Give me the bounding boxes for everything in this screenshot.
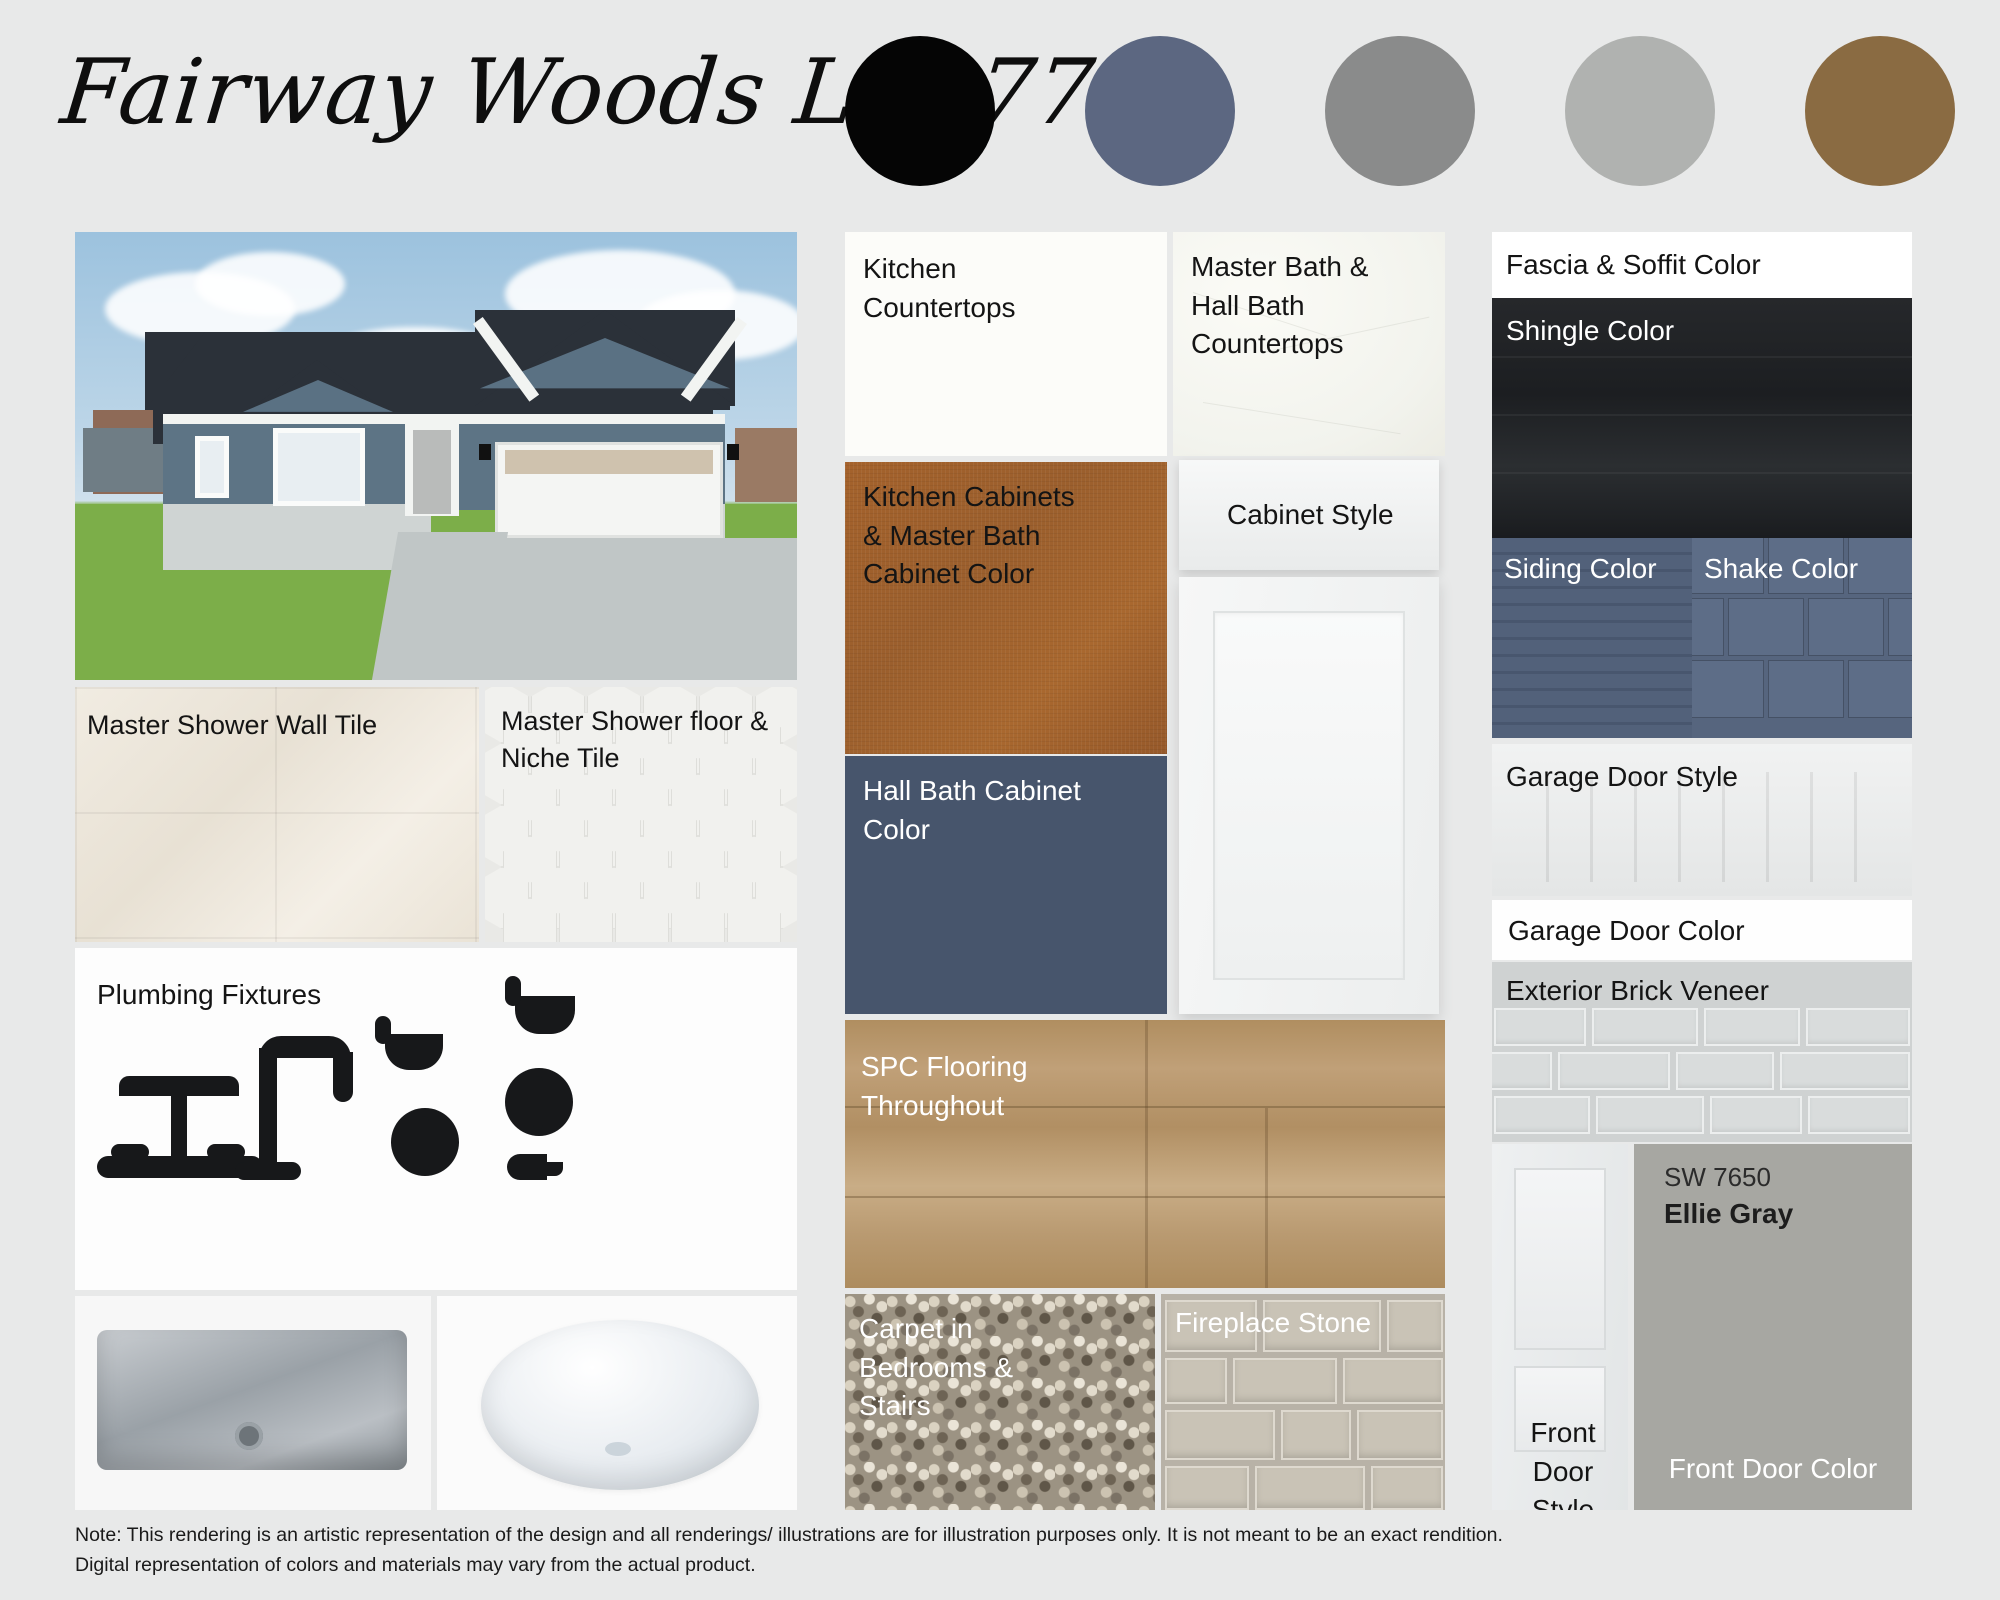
exterior-brick-veneer-label: Exterior Brick Veneer xyxy=(1506,972,1769,1011)
house-rendering-image xyxy=(75,232,797,680)
shower-head-icon xyxy=(385,1034,443,1070)
kitchen-sink-image xyxy=(75,1296,431,1510)
front-door-color-swatch: SW 7650 Ellie Gray Front Door Color xyxy=(1634,1144,1912,1510)
mid-gray-swatch xyxy=(1325,36,1475,186)
master-hall-bath-countertops-label: Master Bath & Hall Bath Countertops xyxy=(1191,248,1368,364)
center-column: Kitchen Countertops Master Bath & Hall B… xyxy=(845,232,1445,1510)
front-door-style-image: Front Door Style xyxy=(1492,1144,1628,1510)
shake-color-swatch: Shake Color xyxy=(1692,538,1912,738)
selections-mood-board: Fairway Woods Lot 77 xyxy=(0,0,2000,1600)
plumbing-fixtures-label: Plumbing Fixtures xyxy=(97,976,321,1015)
hall-bath-cabinet-color-swatch: Hall Bath Cabinet Color xyxy=(845,756,1167,1014)
fascia-soffit-color-label: Fascia & Soffit Color xyxy=(1506,246,1761,285)
carpet-swatch: Carpet in Bedrooms & Stairs xyxy=(845,1294,1155,1510)
fireplace-stone-swatch: Fireplace Stone xyxy=(1161,1294,1445,1510)
fascia-soffit-color-swatch: Fascia & Soffit Color xyxy=(1492,232,1912,298)
right-column: Fascia & Soffit Color Shingle Color Sidi… xyxy=(1492,232,1912,1510)
master-shower-wall-tile-swatch: Master Shower Wall Tile xyxy=(75,687,479,942)
shingle-color-swatch: Shingle Color xyxy=(1492,298,1912,538)
black-swatch xyxy=(845,36,995,186)
plumbing-fixtures-tile: Plumbing Fixtures xyxy=(75,948,797,1290)
slate-blue-swatch xyxy=(1085,36,1235,186)
spc-flooring-swatch: SPC Flooring Throughout xyxy=(845,1020,1445,1288)
master-shower-floor-tile-swatch: Master Shower floor & Niche Tile xyxy=(485,687,797,942)
garage-door-color-swatch: Garage Door Color xyxy=(1492,900,1912,960)
lavatory-sink-image xyxy=(437,1296,797,1510)
siding-color-label: Siding Color xyxy=(1504,550,1657,589)
cabinet-style-chip: Cabinet Style xyxy=(1179,460,1439,570)
master-shower-wall-tile-label: Master Shower Wall Tile xyxy=(87,707,377,744)
cabinet-style-label: Cabinet Style xyxy=(1227,496,1394,535)
brown-swatch xyxy=(1805,36,1955,186)
left-column: Master Shower Wall Tile xyxy=(75,232,797,1510)
page-title: Fairway Woods Lot 77 xyxy=(54,18,830,168)
color-palette-row xyxy=(845,36,1955,196)
master-hall-bath-countertops-swatch: Master Bath & Hall Bath Countertops xyxy=(1173,232,1445,456)
siding-color-swatch: Siding Color xyxy=(1492,538,1692,738)
paint-code: SW 7650 xyxy=(1664,1162,1771,1193)
garage-door-color-label: Garage Door Color xyxy=(1508,912,1745,951)
disclaimer-note: Note: This rendering is an artistic repr… xyxy=(75,1520,1935,1580)
cabinet-door-image xyxy=(1179,577,1439,1014)
shingle-color-label: Shingle Color xyxy=(1506,312,1674,351)
front-door-style-label: Front Door Style xyxy=(1504,1414,1622,1510)
master-shower-floor-tile-label: Master Shower floor & Niche Tile xyxy=(501,703,768,778)
kitchen-countertops-swatch: Kitchen Countertops xyxy=(845,232,1167,456)
kitchen-cabinet-color-label: Kitchen Cabinets & Master Bath Cabinet C… xyxy=(863,478,1075,594)
garage-door-style-image: Garage Door Style xyxy=(1492,744,1912,896)
carpet-label: Carpet in Bedrooms & Stairs xyxy=(859,1310,1013,1426)
garage-door-style-label: Garage Door Style xyxy=(1506,758,1738,797)
hall-bath-cabinet-color-label: Hall Bath Cabinet Color xyxy=(863,772,1081,849)
fireplace-stone-label: Fireplace Stone xyxy=(1175,1304,1371,1343)
kitchen-countertops-label: Kitchen Countertops xyxy=(863,250,1016,327)
shower-head-icon xyxy=(515,996,575,1034)
exterior-brick-veneer-swatch: Exterior Brick Veneer xyxy=(1492,962,1912,1142)
cabinet-door-panel xyxy=(1213,611,1405,980)
shake-color-label: Shake Color xyxy=(1704,550,1858,589)
paint-name: Ellie Gray xyxy=(1664,1198,1793,1230)
board-header: Fairway Woods Lot 77 xyxy=(0,0,2000,225)
front-door-color-label: Front Door Color xyxy=(1634,1450,1912,1489)
kitchen-cabinet-color-swatch: Kitchen Cabinets & Master Bath Cabinet C… xyxy=(845,462,1167,754)
spc-flooring-label: SPC Flooring Throughout xyxy=(861,1048,1028,1125)
light-gray-swatch xyxy=(1565,36,1715,186)
